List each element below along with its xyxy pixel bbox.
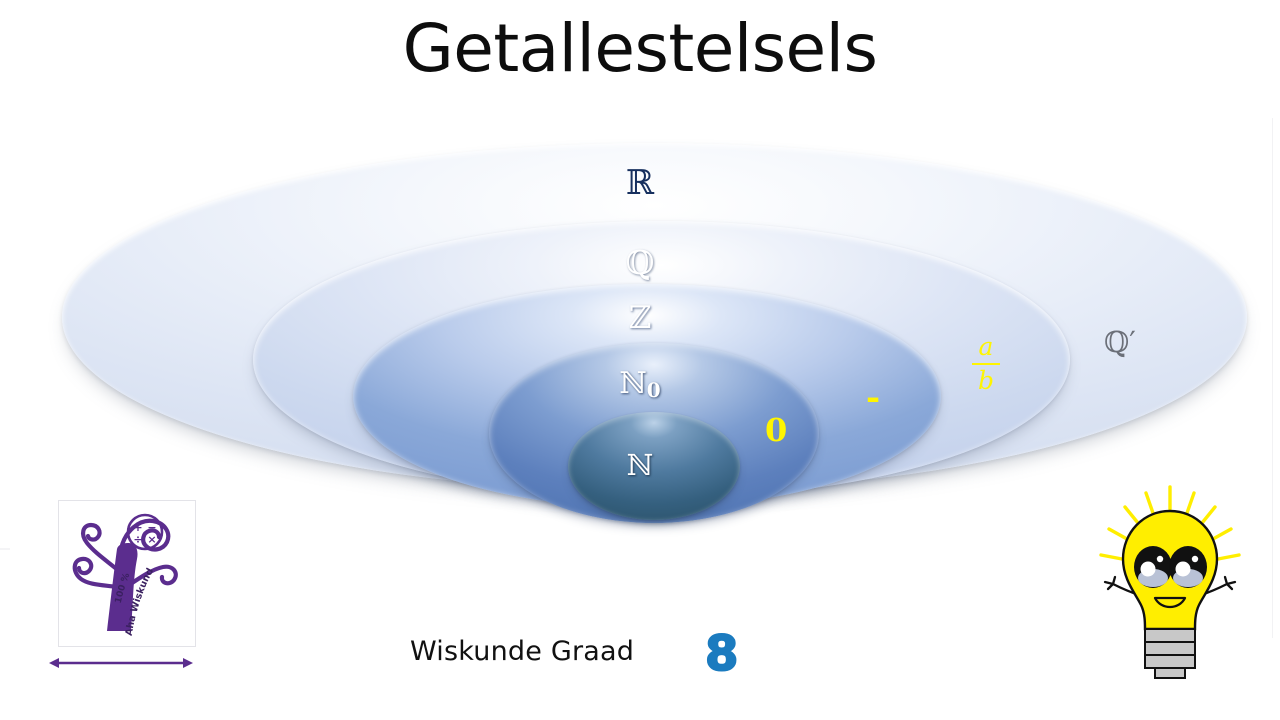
set-label-integers: ℤ (0, 303, 1280, 334)
set-label-real-numbers: ℝ (0, 166, 1280, 200)
fraction-bar (972, 363, 1000, 365)
footer-grade-number: 8 (705, 626, 737, 682)
fraction-denominator: b (968, 368, 1004, 393)
brand-logo: + − ÷ × 100 % Aha Wiskunde (58, 500, 196, 647)
slide-canvas: Getallestelsels ℝ ℚ ℤ ℕ0 ℕ ℚ′ 0 - a b Wi… (0, 0, 1280, 720)
logo-ground-arrow (47, 655, 195, 671)
annotation-fraction-a-over-b: a b (968, 334, 1004, 393)
set-label-whole-numbers-subscript: 0 (647, 378, 661, 402)
svg-text:×: × (147, 533, 156, 546)
set-label-natural-numbers: ℕ (0, 451, 1280, 480)
fraction-numerator: a (968, 334, 1004, 359)
footer-caption: Wiskunde Graad (410, 636, 634, 667)
lightbulb-mascot (1083, 483, 1258, 683)
annotation-zero: 0 (765, 414, 787, 446)
set-label-irrational-numbers: ℚ′ (1104, 328, 1136, 357)
set-label-whole-numbers-base: ℕ (619, 366, 646, 401)
annotation-negative-sign: - (866, 381, 880, 415)
set-label-whole-numbers: ℕ0 (0, 369, 1280, 399)
set-label-rational-numbers: ℚ (0, 246, 1280, 279)
svg-text:÷: ÷ (133, 533, 142, 546)
bulb-base (1145, 629, 1195, 678)
tree-logo-graphic: + − ÷ × 100 % Aha Wiskunde (59, 501, 193, 644)
